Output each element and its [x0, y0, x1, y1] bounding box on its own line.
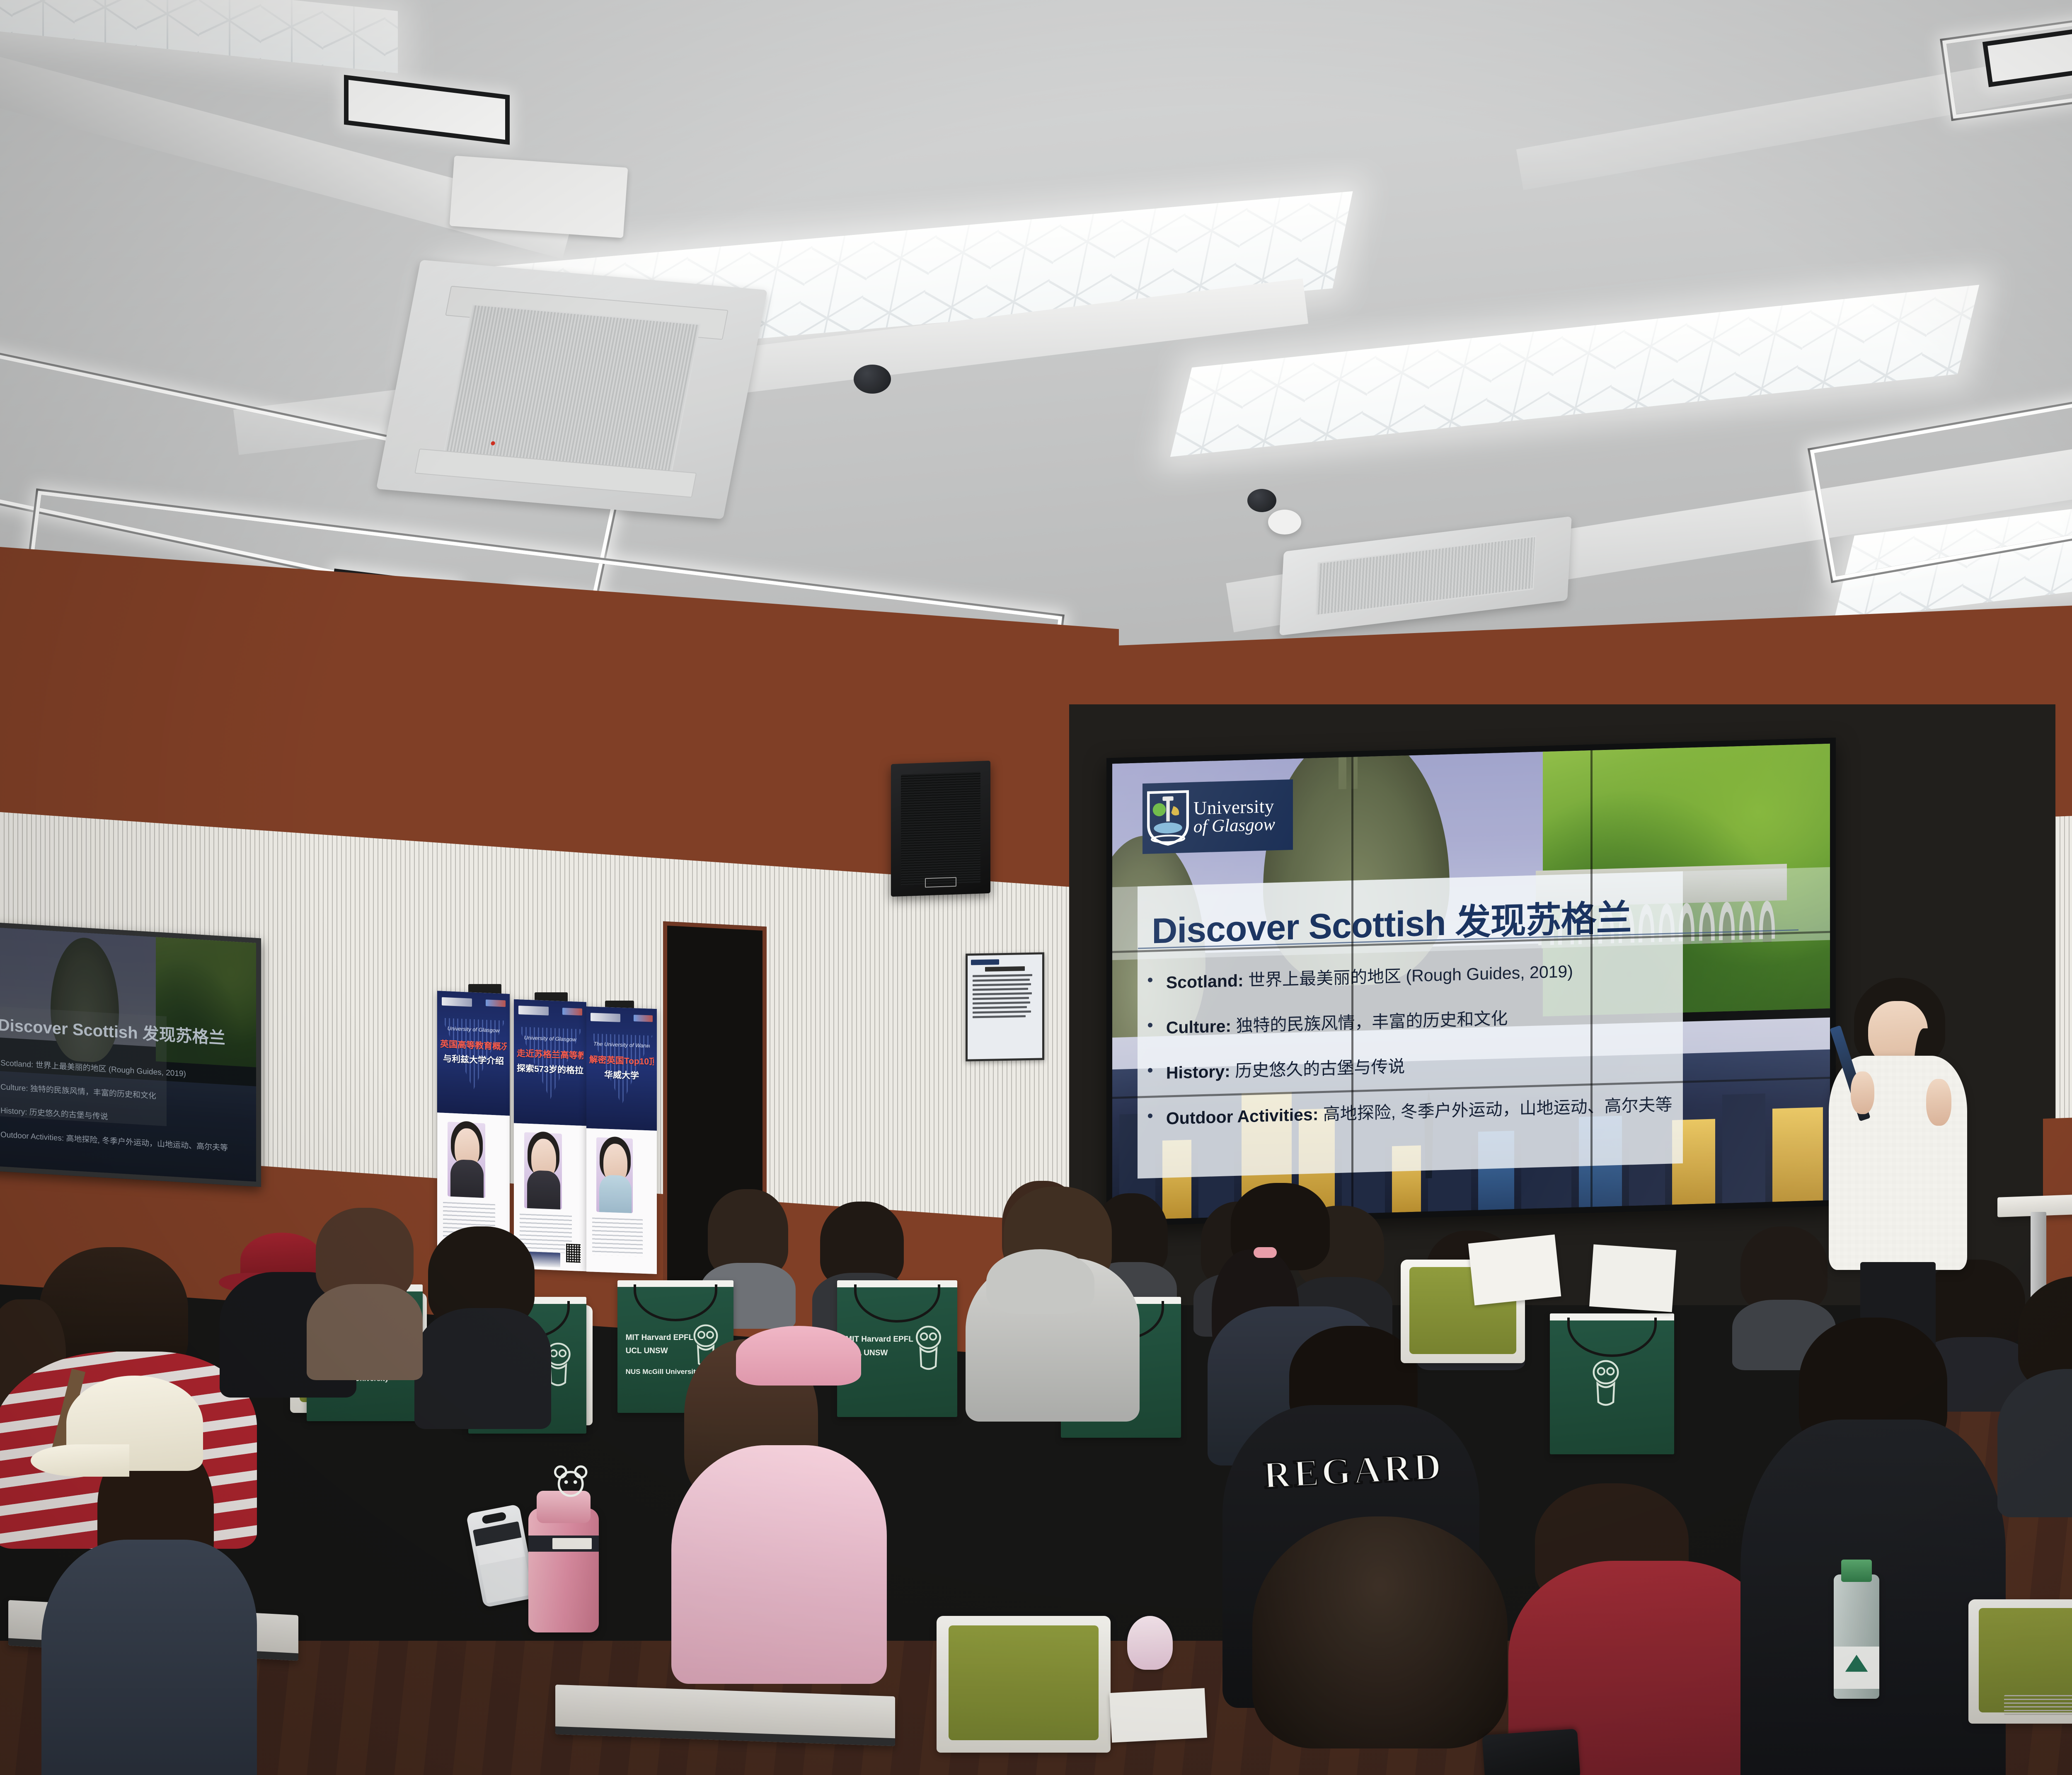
roll-up-banner-3: The University of Warwick 解密英国Top10顶尖名校 … — [586, 1006, 657, 1274]
video-wall-bezel-v1 — [1351, 757, 1353, 1214]
student-glasses-dark — [414, 1226, 551, 1421]
mountain-logo-icon — [1842, 1652, 1871, 1675]
glasgow-crest-icon — [1146, 789, 1190, 847]
banner-qr-code — [565, 1243, 581, 1264]
presenter-hand-mic — [1851, 1071, 1874, 1114]
university-of-glasgow-logo: University of Glasgow — [1143, 779, 1293, 854]
banner-university-logo-1 — [442, 997, 472, 1007]
banner-sponsor-logo-1 — [486, 999, 505, 1007]
student-hair-tie — [1254, 1247, 1277, 1258]
banner-university-logo-3 — [591, 1013, 620, 1022]
plush-charm[interactable] — [1127, 1616, 1173, 1670]
water-bottle-clear[interactable] — [1834, 1574, 1879, 1699]
banner-headline1-1: 英国高等教育概况 — [440, 1037, 507, 1052]
student-gray-hoodie — [966, 1197, 1140, 1413]
owl-mascot-icon — [910, 1321, 946, 1379]
owl-mascot-icon — [1587, 1356, 1624, 1415]
slide-bullet-2-label: Culture: — [1166, 1016, 1231, 1037]
tote-bag-6[interactable] — [1550, 1313, 1674, 1454]
video-wall[interactable]: University of Glasgow Discover Scottish … — [1106, 738, 1836, 1226]
ceiling-ac-unit-left — [376, 260, 767, 519]
slide-bullet-4: Outdoor Activities: 高地探险, 冬季户外运动，山地运动、高尔… — [1166, 1093, 1711, 1129]
ceiling-sensor-dome — [1247, 489, 1276, 512]
banner-university-logo-2 — [518, 1006, 549, 1016]
phone-notch — [482, 1511, 506, 1524]
student-black-fleece-right — [1740, 1318, 2006, 1775]
banner-headline2-3: 华威大学 — [589, 1067, 654, 1082]
water-bottle-pink[interactable] — [528, 1508, 599, 1632]
banner-headline1-3: 解密英国Top10顶尖名校 — [589, 1053, 654, 1067]
bottle-label — [552, 1538, 592, 1549]
slide-bullet-3-label: History: — [1166, 1062, 1230, 1083]
student-navy-jacket-cap — [41, 1438, 257, 1775]
banner-sponsor-logo-3 — [634, 1015, 653, 1022]
ceiling-projector-housing — [450, 156, 628, 238]
student-pink-hood — [671, 1326, 887, 1657]
bottle-cap-green — [1841, 1560, 1872, 1582]
banner-headline2-2: 探索573岁的格拉斯哥大学 — [517, 1061, 583, 1076]
student-brown-hair-center — [307, 1208, 423, 1374]
ceiling-dome-camera — [854, 365, 891, 394]
wall-monitor-left[interactable]: Discover Scottish 发现苏格兰 Scotland: 世界上最美丽… — [0, 922, 261, 1187]
paper-handout-3[interactable] — [1109, 1688, 1207, 1743]
student-cream-cap — [66, 1376, 203, 1471]
slide-bullet-2-text: 独特的民族风情，丰富的历史和文化 — [1231, 1009, 1508, 1036]
notice-logo — [971, 959, 999, 965]
slide-bullet-list: Scotland: 世界上最美丽的地区 (Rough Guides, 2019)… — [1166, 957, 1711, 1154]
smoke-detector — [1268, 510, 1301, 534]
bottle-label-white — [1834, 1647, 1879, 1689]
video-wall-bezel-v2 — [1590, 750, 1593, 1207]
slide-bullet-3: History: 历史悠久的古堡与传说 — [1166, 1047, 1711, 1084]
smartphone-bottom[interactable] — [1482, 1729, 1581, 1775]
student-pink-hoodie — [671, 1445, 887, 1684]
tote-bag-3-line2: UCL UNSW — [626, 1347, 668, 1356]
wall-notice-board — [966, 952, 1044, 1061]
paper-handout-2[interactable] — [1589, 1244, 1676, 1312]
lecture-hall-photo: Discover Scottish 发现苏格兰 Scotland: 世界上最美丽… — [0, 0, 2072, 1775]
phone-screen-content — [473, 1521, 533, 1603]
student-front-center-head — [1235, 1516, 1525, 1775]
banner-headline1-2: 走近苏格兰高等教育 — [517, 1047, 583, 1062]
wall-speaker — [891, 761, 990, 897]
roll-up-banner-1: University of Glasgow 英国高等教育概况 与利兹大学介绍 — [437, 991, 510, 1259]
banner-sponsor-logo-2 — [562, 1008, 582, 1016]
student-hood — [986, 1249, 1094, 1314]
banner-headline2-1: 与利兹大学介绍 — [440, 1052, 507, 1067]
presenter-hand-gesture — [1926, 1079, 1951, 1126]
smartphone[interactable] — [466, 1504, 537, 1608]
slide-bullet-2: Culture: 独特的民族风情，丰富的历史和文化 — [1166, 1002, 1711, 1039]
glasgow-logo-line2: of Glasgow — [1193, 815, 1275, 836]
slide-bullet-4-label: Outdoor Activities: — [1166, 1105, 1319, 1128]
paper-handout-1[interactable] — [1468, 1234, 1561, 1305]
student-pink-headband — [736, 1326, 861, 1386]
slide-bullet-3-text: 历史悠久的古堡与传说 — [1230, 1057, 1405, 1081]
student-right-edge — [1997, 1276, 2072, 1508]
slide-bullet-1-label: Scotland: — [1166, 971, 1244, 992]
slide-bullet-4-text: 高地探险, 冬季户外运动，山地运动、高尔夫等 — [1318, 1095, 1672, 1124]
presenter — [1819, 978, 1977, 1367]
chair-right-2[interactable] — [1968, 1599, 2072, 1724]
chair-front-center[interactable] — [937, 1616, 1111, 1753]
notice-title — [985, 966, 1024, 972]
bear-charm-icon — [552, 1456, 589, 1508]
